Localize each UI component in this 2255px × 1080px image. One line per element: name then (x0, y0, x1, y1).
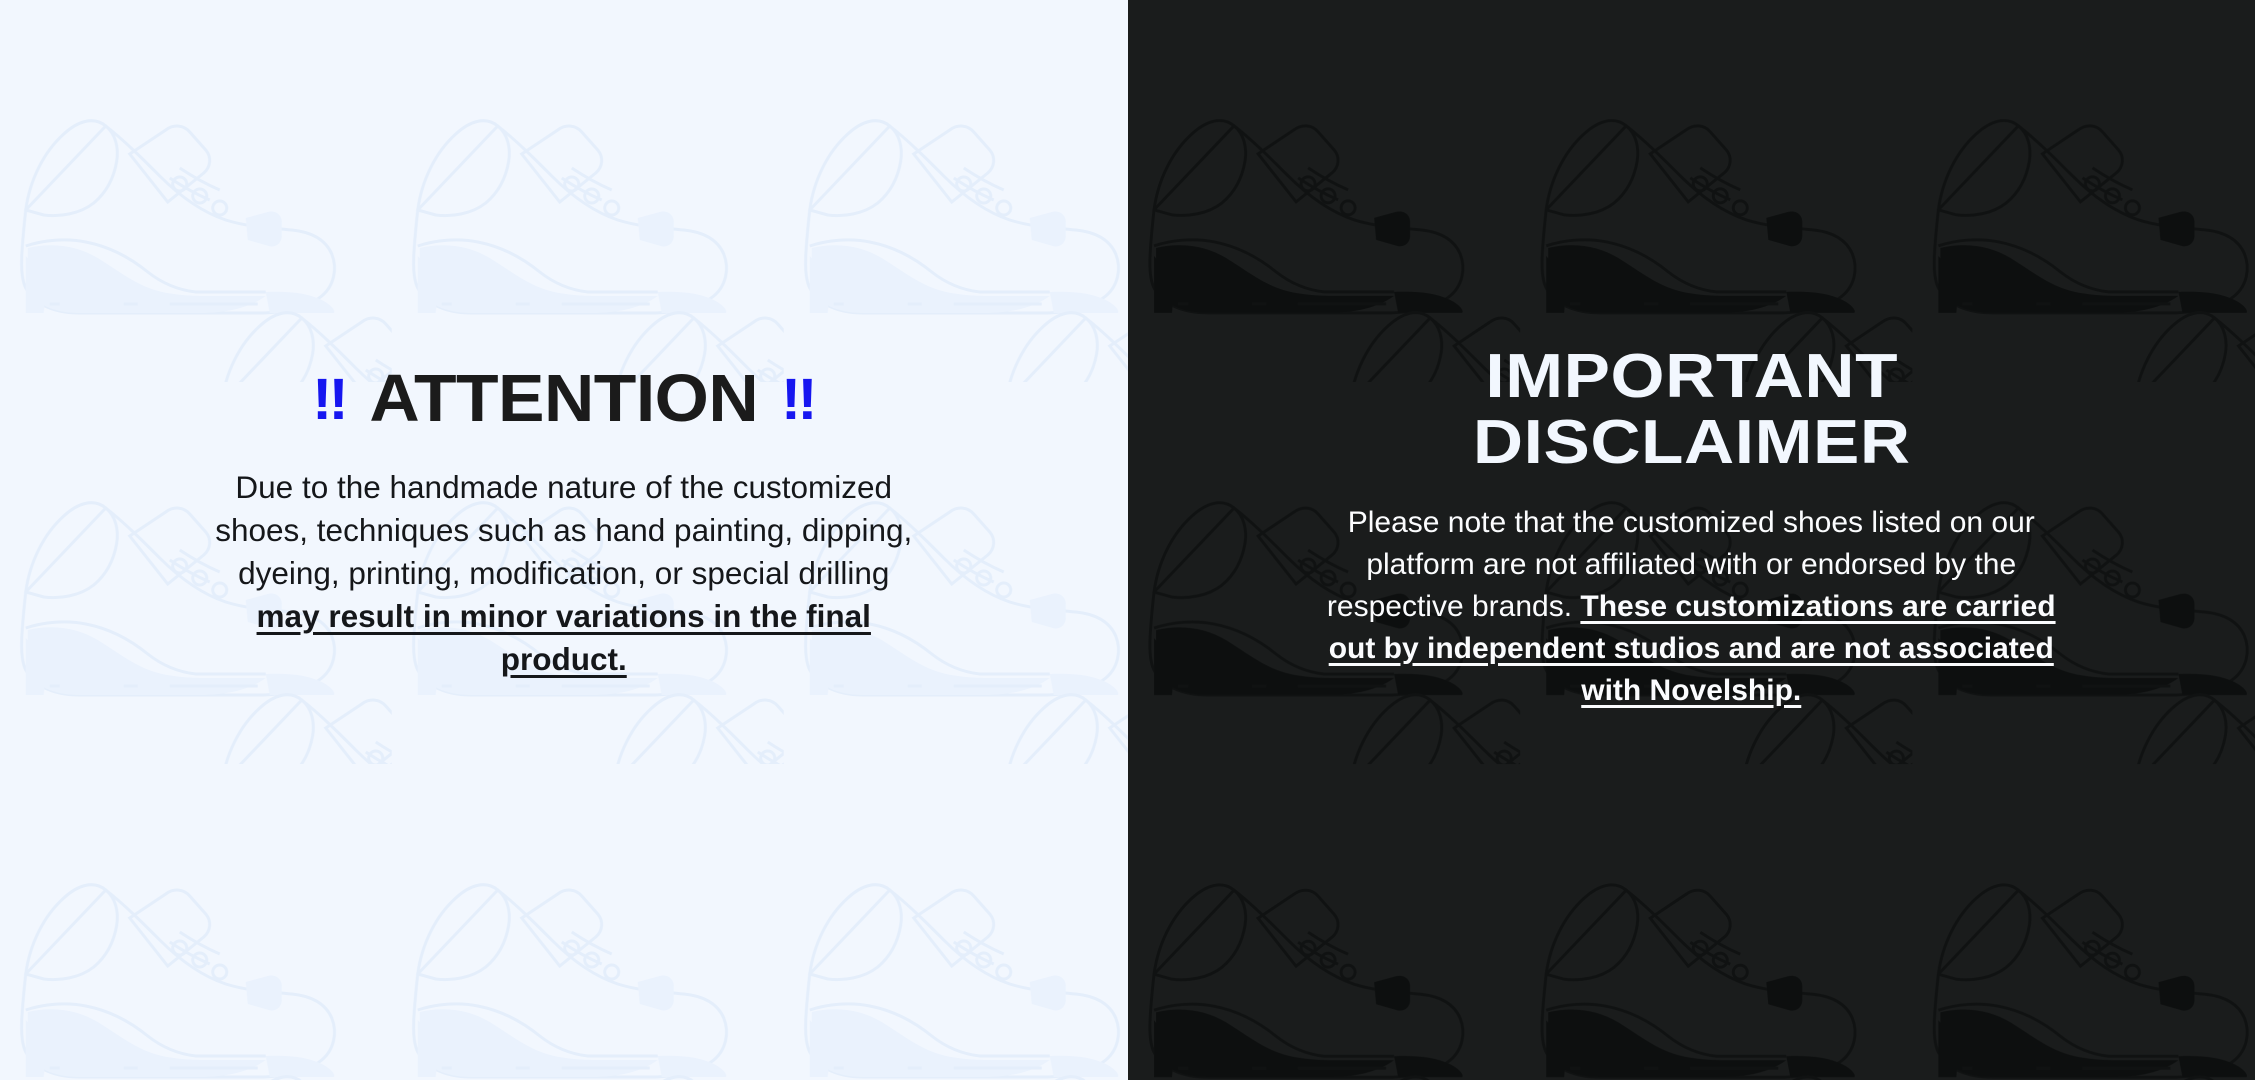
attention-heading-text: ATTENTION (369, 361, 758, 436)
disclaimer-heading: IMPORTANT DISCLAIMER (1194, 344, 2188, 475)
disclaimer-body: Please note that the customized shoes li… (1321, 502, 2061, 712)
attention-body-normal: Due to the handmade nature of the custom… (215, 469, 912, 591)
attention-heading: ‼ATTENTION‼ (133, 365, 994, 432)
disclaimer-heading-line1: IMPORTANT (1194, 344, 2188, 410)
attention-body-emphasis: may result in minor variations in the fi… (257, 598, 871, 677)
disclaimer-banner: ‼ATTENTION‼ Due to the handmade nature o… (0, 0, 2255, 1080)
double-exclamation-left-icon: ‼ (312, 367, 346, 432)
attention-body: Due to the handmade nature of the custom… (214, 466, 914, 682)
attention-content: ‼ATTENTION‼ Due to the handmade nature o… (0, 365, 1128, 682)
disclaimer-heading-line2: DISCLAIMER (1194, 410, 2188, 476)
disclaimer-panel: IMPORTANT DISCLAIMER Please note that th… (1128, 0, 2255, 1080)
disclaimer-content: IMPORTANT DISCLAIMER Please note that th… (1128, 344, 2255, 711)
double-exclamation-right-icon: ‼ (781, 367, 815, 432)
attention-panel: ‼ATTENTION‼ Due to the handmade nature o… (0, 0, 1128, 1080)
